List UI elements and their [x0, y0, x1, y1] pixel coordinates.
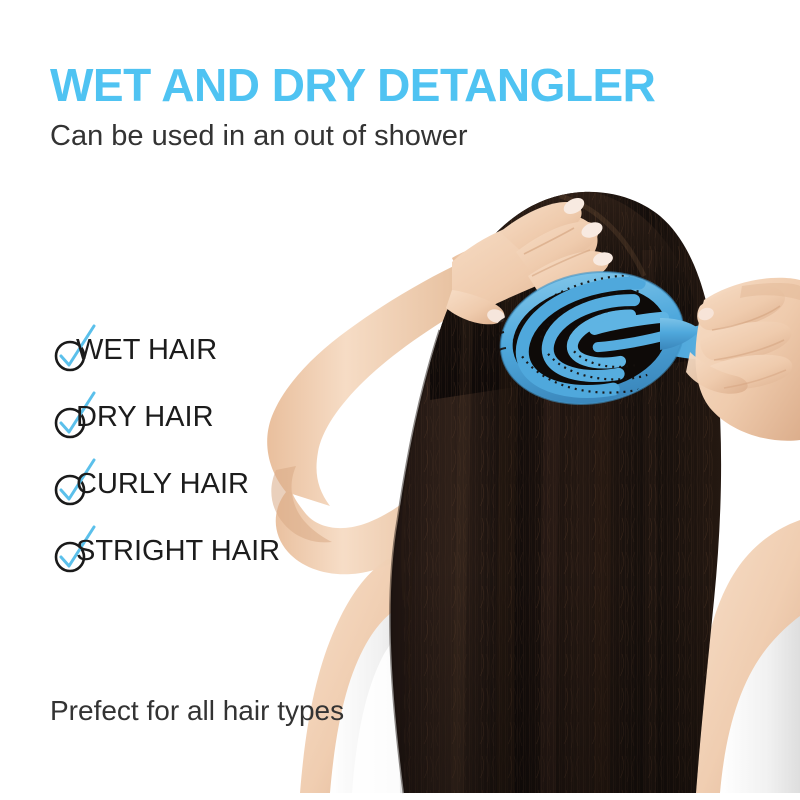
page-title: WET AND DRY DETANGLER	[50, 58, 655, 112]
list-item: CURLY HAIR	[48, 464, 348, 531]
list-item-label: WET HAIR	[76, 334, 217, 367]
product-marketing-image: WET AND DRY DETANGLER Can be used in an …	[0, 0, 800, 800]
page-subtitle: Can be used in an out of shower	[50, 120, 468, 153]
footer-tagline: Prefect for all hair types	[50, 695, 344, 727]
list-item-label: CURLY HAIR	[76, 468, 249, 501]
list-item: WET HAIR	[48, 330, 348, 397]
list-item: DRY HAIR	[48, 397, 348, 464]
list-item-label: DRY HAIR	[76, 401, 214, 434]
list-item-label: STRIGHT HAIR	[76, 535, 280, 568]
list-item: STRIGHT HAIR	[48, 531, 348, 598]
feature-checklist: WET HAIR DRY HAIR CURLY HAIR	[48, 330, 348, 598]
